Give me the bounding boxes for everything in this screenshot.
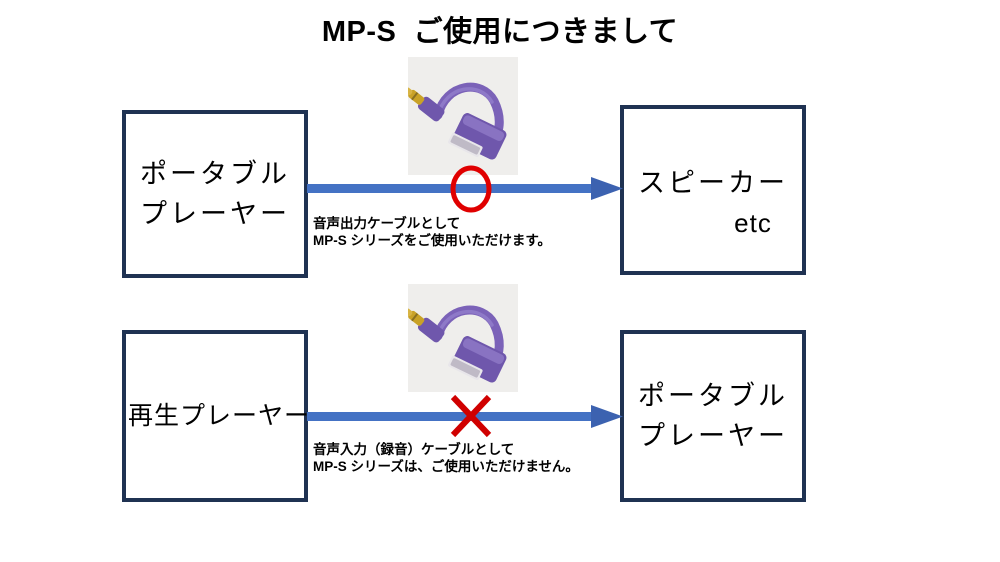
source-box-row-output[interactable]: ポータブル プレーヤー <box>122 110 308 278</box>
caption-row-input: 音声入力（録音）ケーブルとして MP-S シリーズは、ご使用いただけません。 <box>313 441 653 475</box>
cable-photo-row-input <box>408 284 518 392</box>
target-box-row-input[interactable]: ポータブル プレーヤー <box>620 330 806 502</box>
cable-photo-row-output <box>408 57 518 175</box>
target-box-row-output[interactable]: スピーカー etc <box>620 105 806 275</box>
page-title: MP-S ご使用につきまして <box>0 8 1000 50</box>
target-box-label-row-output: スピーカー <box>624 163 802 203</box>
target-box-sublabel-row-output: etc <box>624 203 842 243</box>
source-box-row-input[interactable]: 再生プレーヤー <box>122 330 308 502</box>
source-box-label-row-input: 再生プレーヤー <box>114 396 324 436</box>
cross-ng-mark <box>446 391 496 441</box>
caption-row-output: 音声出力ケーブルとして MP-S シリーズをご使用いただけます。 <box>313 215 643 249</box>
circle-ok-mark <box>447 163 495 215</box>
source-box-label-row-output: ポータブル プレーヤー <box>126 154 304 234</box>
slide-canvas: MP-S ご使用につきまして <box>0 0 1000 562</box>
